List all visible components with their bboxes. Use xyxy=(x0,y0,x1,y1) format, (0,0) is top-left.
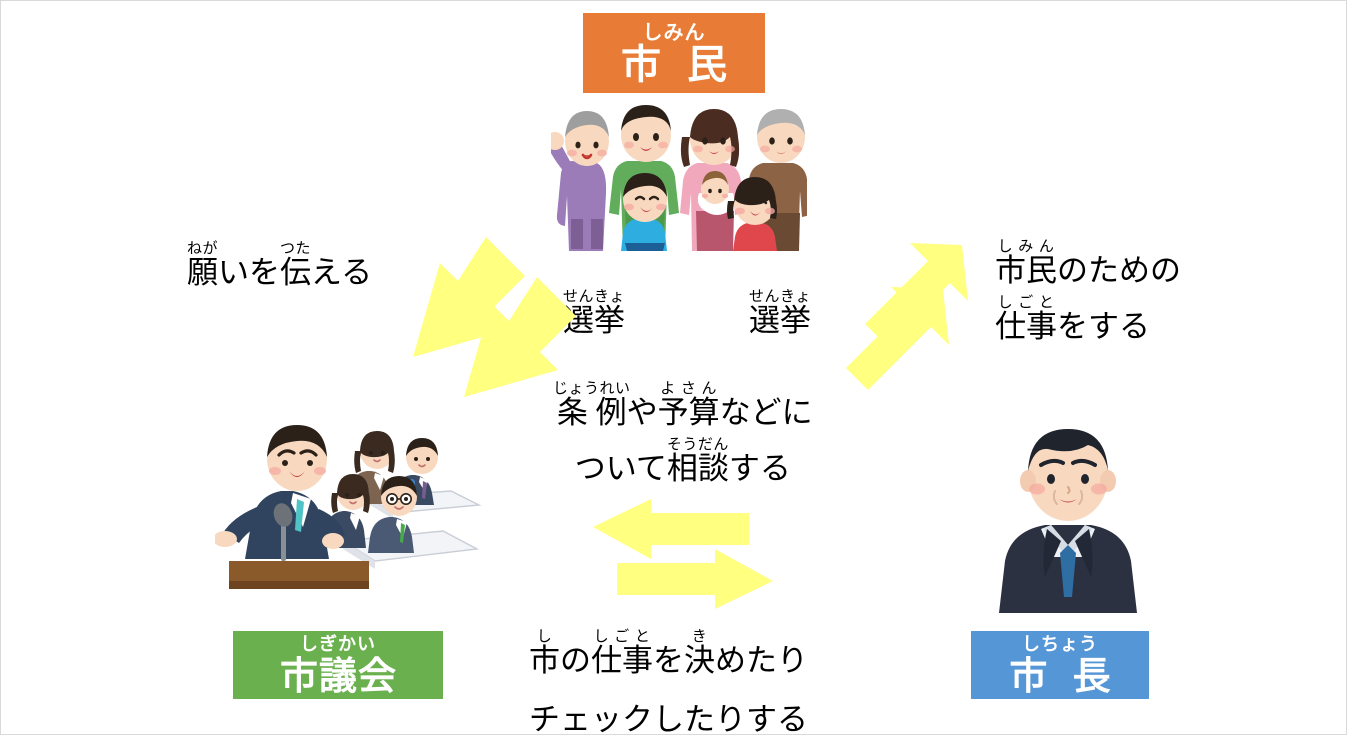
caption-decide-and-check: 市しの仕事しごとを決きめたり チェックしたりする xyxy=(529,627,808,735)
caption-election-right: 選挙せんきょ xyxy=(749,287,811,343)
ruby-senkyo: 選挙せんきょ xyxy=(749,303,811,339)
mayor-furigana: しちょう xyxy=(1022,636,1098,654)
city-council-illustration xyxy=(215,413,487,603)
council-label: 市議会 xyxy=(279,657,397,695)
council-furigana: しぎかい xyxy=(300,636,376,654)
diagram-canvas: しみん 市 民 xyxy=(0,0,1347,735)
caption-consult-ordinance-budget: 条例じょうれいや予算よさんなどに ついて相談そうだんする xyxy=(553,379,813,491)
arrow-left xyxy=(593,499,749,559)
citizens-furigana: しみん xyxy=(643,22,706,42)
ruby-yosan: 予算よさん xyxy=(658,395,720,431)
citizens-label: 市 民 xyxy=(615,45,733,85)
arrow-pair-citizens-mayor xyxy=(859,223,1049,408)
caption-line: 願ねがいを伝つたえる xyxy=(187,239,372,295)
ruby-soudan: 相談そうだん xyxy=(667,451,729,487)
ruby-shi: 市し xyxy=(529,643,560,679)
caption-line: ついて相談そうだんする xyxy=(553,435,813,491)
mayor-illustration xyxy=(989,413,1147,613)
node-label-citizens: しみん 市 民 xyxy=(583,13,765,93)
arrow-pair-citizens-council xyxy=(361,229,591,409)
caption-convey-wishes: 願ねがいを伝つたえる xyxy=(187,239,372,295)
arrow-pair-council-mayor xyxy=(593,499,773,611)
node-label-mayor: しちょう 市 長 xyxy=(971,631,1149,699)
caption-line: 条例じょうれいや予算よさんなどに xyxy=(553,379,813,435)
ruby-kimeru: 決き xyxy=(684,643,715,679)
ruby-shigoto: 仕事しごと xyxy=(591,643,653,679)
node-label-city-council: しぎかい 市議会 xyxy=(233,631,443,699)
arrow-right xyxy=(617,549,773,609)
caption-line: 市しの仕事しごとを決きめたり xyxy=(529,627,808,691)
caption-line: 選挙せんきょ xyxy=(749,287,811,343)
mayor-label: 市 長 xyxy=(1003,657,1116,695)
caption-line: チェックしたりする xyxy=(529,691,808,735)
ruby-tsutaeru: 伝つた xyxy=(280,255,311,291)
ruby-negau: 願ねが xyxy=(187,255,218,291)
